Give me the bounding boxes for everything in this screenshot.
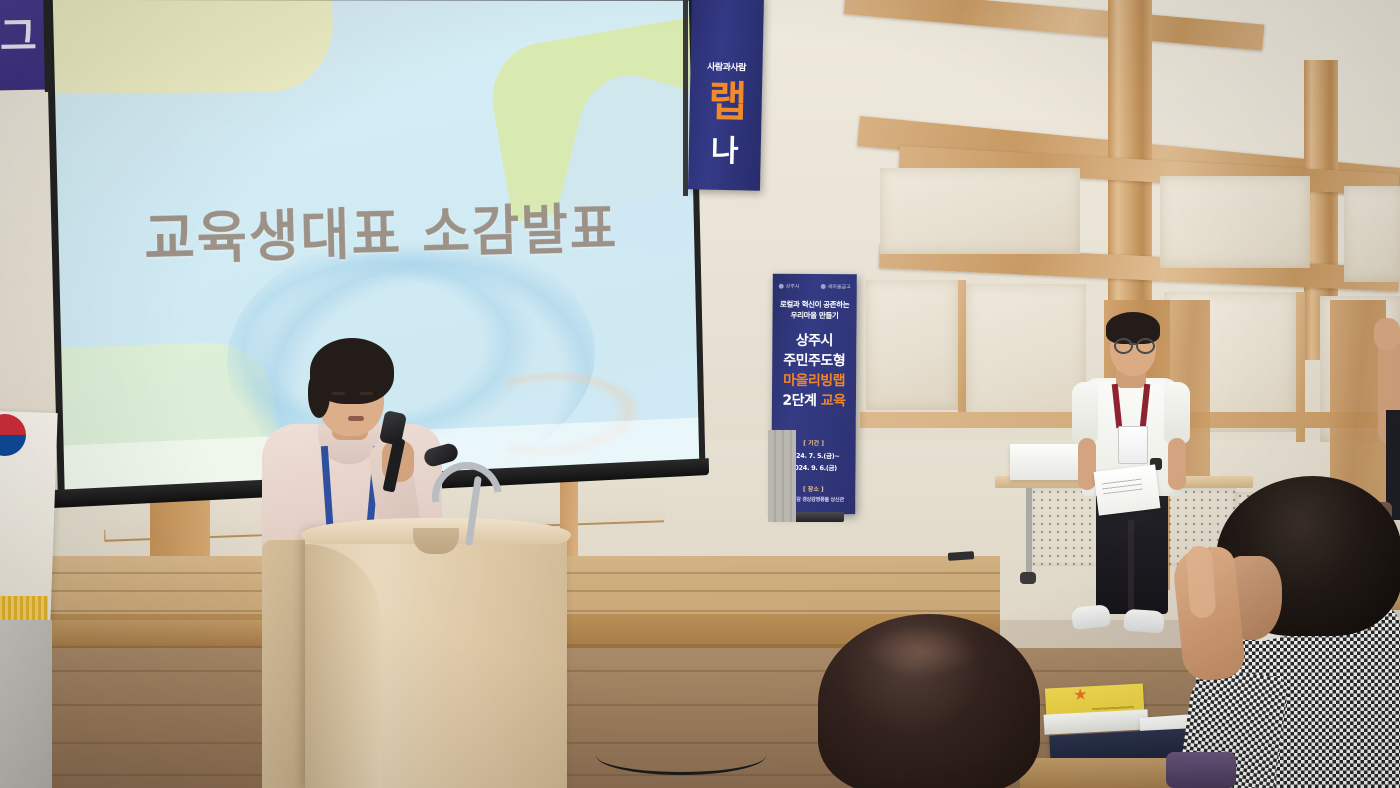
purple-wall-banner: 그 [0,0,47,90]
rollup-headline-1: 상주시 [772,330,856,351]
speaker-mouth [348,416,364,421]
hanji-panel-1 [880,168,1080,254]
star-icon: ★ [1073,684,1088,704]
rollup-radiator [768,430,796,522]
man-leg-gap [1128,520,1134,614]
rollup-headline-3: 마을리빙랩 [772,370,856,391]
hanging-banner-sub-text: 나 [692,125,757,170]
audience-woman-hair-highlight [866,624,976,678]
man-glasses-right-lens-icon [1136,338,1155,354]
man-slipper-right [1123,609,1164,634]
hanji-panel-5 [966,284,1086,420]
banner-rod [683,0,688,196]
folding-table-caster [1020,572,1036,584]
man-name-badge [1118,426,1148,464]
rollup-lead-line1: 로컬과 혁신이 공존하는 [773,300,857,311]
man-arm-left [1078,438,1096,490]
logo-mark-right-icon [821,284,826,289]
rollup-lead-line2: 우리마을 만들기 [773,311,857,322]
man-glasses-bridge [1129,343,1136,345]
photo-scene: 교육생대표 소감발표 그 사람과사람 랩 나 상주시 새마을금고 로컬과 혁신이… [0,0,1400,788]
audience-purple-item [1166,752,1236,788]
man-slipper-left [1071,604,1111,630]
slide-shape-yellow [53,0,334,94]
podium-notch [413,528,459,554]
rollup-headline-4: 2단계 교육 [772,390,856,411]
side-cabinet [0,620,52,788]
hanging-banner: 사람과사람 랩 나 [688,0,764,191]
panel-divider-1 [958,280,966,416]
rollup-logos: 상주시 새마을금고 [779,280,851,293]
man-sleeve-left [1072,382,1098,444]
speaker-hair-side [308,372,330,418]
slide-title: 교육생대표 소감발표 [58,184,695,278]
hanging-banner-top-text: 사람과사람 [694,59,758,73]
hanji-panel-2 [1160,176,1310,268]
speaker-eye-left [332,392,345,395]
purple-banner-char: 그 [0,4,37,63]
podium [305,528,567,788]
rollup-headline-2: 주민주도형 [772,350,856,371]
edge-person-hand [1374,318,1400,350]
rollup-logo-right: 새마을금고 [821,283,851,290]
flag-fringe [0,596,48,622]
man-glasses-left-lens-icon [1114,338,1133,354]
rollup-headline-4-accent: 교육 [821,393,846,409]
podium-curved-edge [305,544,381,788]
hanji-panel-3 [1344,186,1400,282]
hanji-panel-4 [866,280,958,410]
hanging-banner-big-text: 랩 [691,81,762,122]
rollup-lead: 로컬과 혁신이 공존하는 우리마을 만들기 [773,300,857,322]
floor-cable [596,736,766,775]
folding-table-leg [1026,488,1032,576]
audience-checkered-finger [1186,545,1217,619]
rollup-headline-4-prefix: 2단계 [782,393,816,409]
man-arm-right [1168,438,1186,490]
man-sleeve-right [1164,382,1190,444]
speaker-eye-right [360,392,373,395]
rollup-logo-right-text: 새마을금고 [828,283,851,290]
rollup-logo-left: 상주시 [779,282,800,289]
rollup-logo-left-text: 상주시 [786,282,800,289]
logo-mark-left-icon [779,283,784,288]
white-box [1010,444,1088,480]
